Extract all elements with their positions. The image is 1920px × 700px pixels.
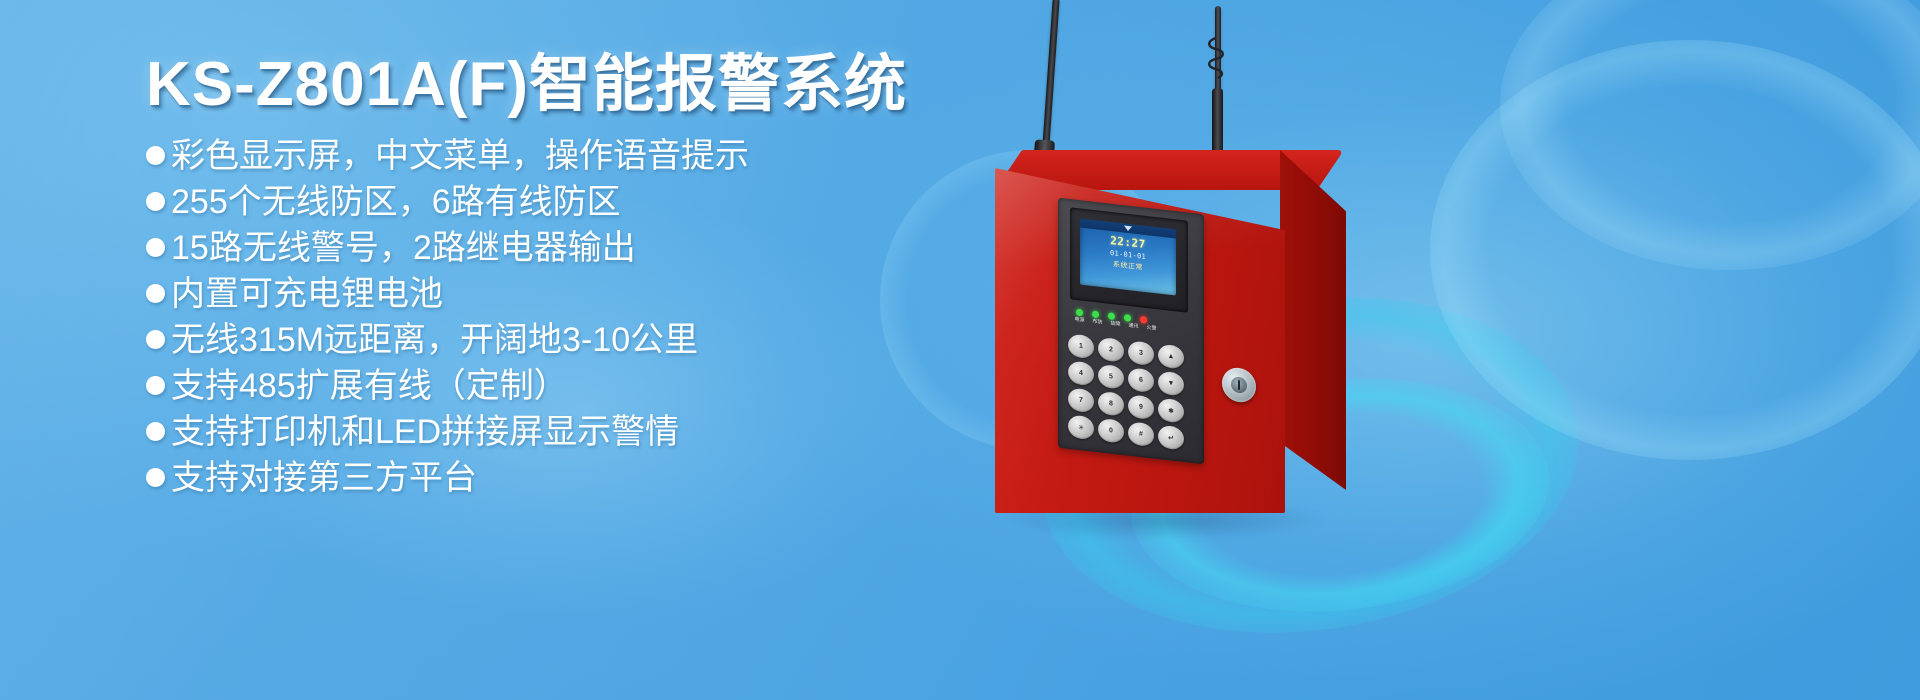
keypad-key[interactable]: # <box>1128 421 1154 447</box>
keypad-key[interactable]: 1 <box>1068 333 1094 359</box>
bullet-icon <box>146 330 165 349</box>
bullet-icon <box>146 146 165 165</box>
bullet-icon <box>146 238 165 257</box>
keypad-key[interactable]: 9 <box>1128 394 1154 420</box>
alarm-led-icon <box>1140 315 1147 323</box>
keypad-key[interactable]: 7 <box>1068 387 1094 413</box>
lock-cylinder <box>1231 376 1247 394</box>
list-item: 支持打印机和LED拼接屏显示警情 <box>146 415 926 449</box>
list-item: 内置可充电锂电池 <box>146 277 926 311</box>
led-label: 电源 <box>1073 315 1086 326</box>
keypad-key[interactable]: ▼ <box>1158 371 1184 397</box>
list-item: 支持对接第三方平台 <box>146 461 926 495</box>
feature-text: 支持打印机和LED拼接屏显示警情 <box>171 415 679 449</box>
page-title: KS-Z801A(F)智能报警系统 <box>146 52 926 117</box>
feature-text: 255个无线防区，6路有线防区 <box>171 185 621 219</box>
numeric-keypad[interactable]: 1 2 3 ▲ 4 5 6 ▼ 7 8 9 ✱ ✳ 0 # ↵ <box>1068 333 1184 450</box>
led-label: 通讯 <box>1127 321 1140 332</box>
power-led-icon <box>1076 308 1083 316</box>
led-label: 火警 <box>1145 324 1158 335</box>
keypad-key[interactable]: ✳ <box>1068 414 1094 440</box>
product-banner: KS-Z801A(F)智能报警系统 彩色显示屏，中文菜单，操作语音提示 255个… <box>0 0 1920 700</box>
antenna-coil-icon <box>1203 36 1229 80</box>
list-item: 15路无线警号，2路继电器输出 <box>146 231 926 265</box>
keypad-key[interactable]: 5 <box>1098 364 1124 390</box>
led-label: 布防 <box>1091 317 1104 328</box>
keypad-key[interactable]: 6 <box>1128 367 1154 393</box>
keypad-key[interactable]: ↵ <box>1158 425 1184 451</box>
led-label: 故障 <box>1109 319 1122 330</box>
keypad-key[interactable]: ▲ <box>1158 344 1184 370</box>
bullet-icon <box>146 422 165 441</box>
keypad-key[interactable]: ✱ <box>1158 398 1184 424</box>
list-item: 255个无线防区，6路有线防区 <box>146 185 926 219</box>
alarm-control-panel: 22:27 01-01-01 系统正常 电源 布防 故障 通讯 火警 1 2 3… <box>960 0 1920 700</box>
keypad-key[interactable]: 4 <box>1068 360 1094 386</box>
lcd-screen[interactable]: 22:27 01-01-01 系统正常 <box>1080 219 1176 296</box>
feature-text: 支持485扩展有线（定制） <box>171 369 568 403</box>
keypad-key[interactable]: 0 <box>1098 418 1124 444</box>
list-item: 支持485扩展有线（定制） <box>146 369 926 403</box>
arm-led-icon <box>1092 310 1099 318</box>
fault-led-icon <box>1108 312 1115 320</box>
feature-text: 彩色显示屏，中文菜单，操作语音提示 <box>171 139 749 173</box>
bullet-icon <box>146 376 165 395</box>
cabinet-side <box>1280 150 1346 490</box>
comm-led-icon <box>1124 314 1131 322</box>
feature-list: 彩色显示屏，中文菜单，操作语音提示 255个无线防区，6路有线防区 15路无线警… <box>146 139 926 495</box>
list-item: 彩色显示屏，中文菜单，操作语音提示 <box>146 139 926 173</box>
bullet-icon <box>146 284 165 303</box>
feature-text: 15路无线警号，2路继电器输出 <box>171 231 636 265</box>
keypad-key[interactable]: 2 <box>1098 337 1124 363</box>
feature-text: 无线315M远距离，开阔地3-10公里 <box>171 323 698 357</box>
feature-text: 内置可充电锂电池 <box>171 277 443 311</box>
bullet-icon <box>146 468 165 487</box>
list-item: 无线315M远距离，开阔地3-10公里 <box>146 323 926 357</box>
copy-block: KS-Z801A(F)智能报警系统 彩色显示屏，中文菜单，操作语音提示 255个… <box>146 52 926 507</box>
keypad-key[interactable]: 3 <box>1128 340 1154 366</box>
keypad-key[interactable]: 8 <box>1098 391 1124 417</box>
feature-text: 支持对接第三方平台 <box>171 461 477 495</box>
bullet-icon <box>146 192 165 211</box>
signal-icon <box>1124 226 1132 232</box>
